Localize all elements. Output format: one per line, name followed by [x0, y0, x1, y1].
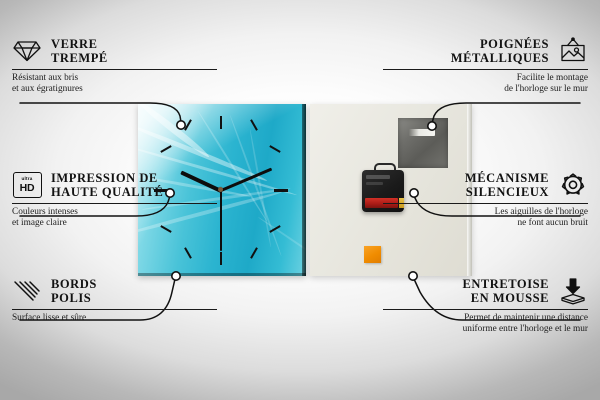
hanging-picture-frame-icon	[558, 36, 588, 66]
hd-badge-hd-label: HD	[20, 183, 35, 194]
metal-hanger-plate	[398, 118, 448, 168]
diamond-icon	[12, 36, 42, 66]
hd-badge-ultra-label: ultra	[22, 177, 33, 182]
clock-second-hand	[220, 191, 222, 251]
press-down-foam-icon	[558, 276, 588, 306]
feature-divider	[383, 203, 588, 204]
clock-center-cap	[218, 187, 223, 192]
feature-title: IMPRESSION DE HAUTE QUALITÉ	[51, 171, 163, 199]
feature-description: Surface lisse et sûre	[12, 313, 217, 324]
feature-divider	[383, 69, 588, 70]
feature-title: ENTRETOISE EN MOUSSE	[462, 277, 549, 305]
feature-header: POIGNÉES MÉTALLIQUES	[383, 36, 588, 66]
feature-title: VERRE TREMPÉ	[51, 37, 108, 65]
feature-impression-haute-qualite: ultra HD IMPRESSION DE HAUTE QUALITÉ Cou…	[12, 170, 217, 230]
foam-spacer-pad	[364, 246, 381, 263]
clock-tick	[220, 116, 222, 129]
feature-description: Couleurs intenses et image claire	[12, 207, 217, 230]
mechanism-print-line	[366, 182, 383, 185]
feature-header: ultra HD IMPRESSION DE HAUTE QUALITÉ	[12, 170, 217, 200]
feature-title: MÉCANISME SILENCIEUX	[465, 171, 549, 199]
feature-divider	[12, 309, 217, 310]
feature-header: ENTRETOISE EN MOUSSE	[383, 276, 588, 306]
feather-streak	[229, 115, 282, 257]
feature-header: MÉCANISME SILENCIEUX	[383, 170, 588, 200]
feature-verre-trempe: VERRE TREMPÉ Résistant aux bris et aux é…	[12, 36, 217, 96]
feature-divider	[12, 203, 217, 204]
feature-bords-polis: BORDS POLIS Surface lisse et sûre	[12, 276, 217, 324]
feature-description: Permet de maintenir une distance uniform…	[383, 313, 588, 336]
ultra-hd-badge-icon: ultra HD	[12, 170, 42, 200]
feature-entretoise-en-mousse: ENTRETOISE EN MOUSSE Permet de maintenir…	[383, 276, 588, 336]
feature-description: Facilite le montage de l'horloge sur le …	[383, 73, 588, 96]
clock-tick	[160, 145, 171, 153]
feature-header: VERRE TREMPÉ	[12, 36, 217, 66]
feature-title: POIGNÉES MÉTALLIQUES	[451, 37, 549, 65]
clock-tick	[274, 189, 288, 192]
feature-description: Résistant aux bris et aux égratignures	[12, 73, 217, 96]
feather-streak	[257, 216, 306, 268]
feature-header: BORDS POLIS	[12, 276, 217, 306]
clock-tick	[184, 247, 192, 258]
clock-tick	[269, 145, 280, 153]
feature-divider	[12, 69, 217, 70]
hd-badge: ultra HD	[13, 172, 42, 198]
feature-divider	[383, 309, 588, 310]
polished-edge-lines-icon	[12, 276, 42, 306]
feature-title: BORDS POLIS	[51, 277, 97, 305]
gear-icon	[558, 170, 588, 200]
hanger-keyhole-slot	[409, 129, 435, 136]
clock-tick	[250, 247, 258, 258]
clock-tick	[250, 119, 258, 130]
feature-poignees-metalliques: POIGNÉES MÉTALLIQUES Facilite le montage…	[383, 36, 588, 96]
clock-right-edge	[302, 104, 306, 276]
product-infographic: VERRE TREMPÉ Résistant aux bris et aux é…	[0, 0, 600, 400]
feature-description: Les aiguilles de l'horloge ne font aucun…	[383, 207, 588, 230]
clock-tick	[220, 252, 222, 265]
feature-mecanisme-silencieux: MÉCANISME SILENCIEUX Les aiguilles de l'…	[383, 170, 588, 230]
clock-tick	[184, 119, 192, 130]
